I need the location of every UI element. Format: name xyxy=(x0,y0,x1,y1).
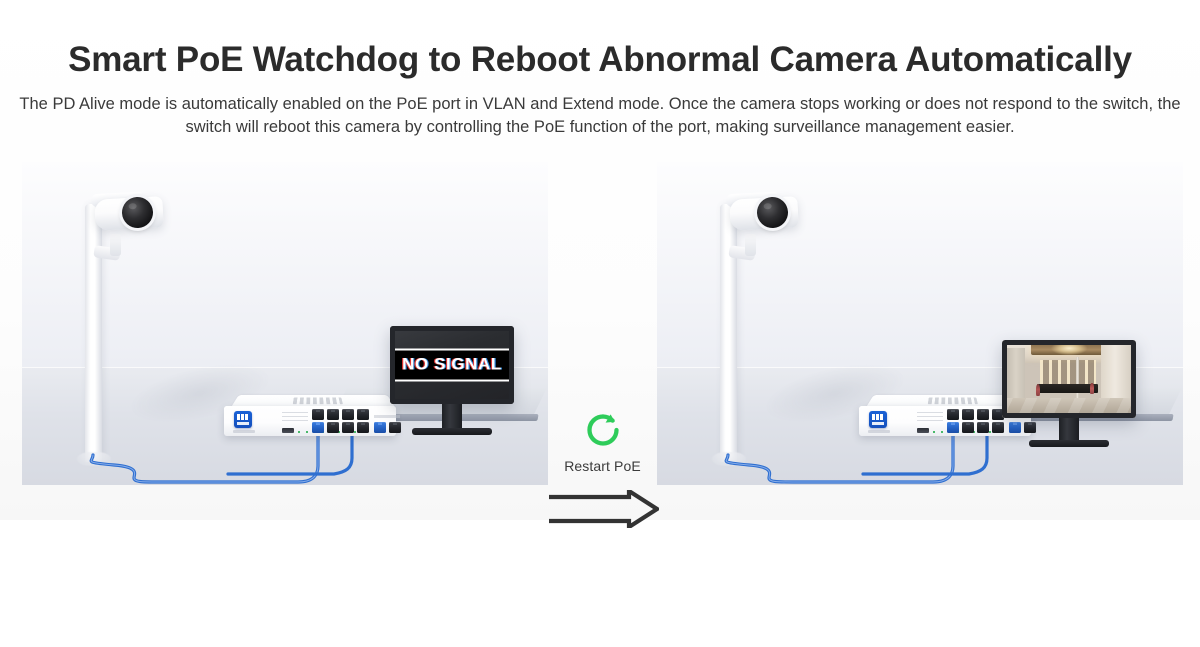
switch-front-panel xyxy=(224,406,396,436)
screen-content-live-video xyxy=(1002,340,1136,418)
restart-poe-label: Restart PoE xyxy=(548,458,657,474)
switch-model-label xyxy=(233,430,255,433)
right-arrow-icon xyxy=(547,490,659,528)
lobby-person xyxy=(1090,383,1094,394)
poe-watchdog-feature-page: Smart PoE Watchdog to Reboot Abnormal Ca… xyxy=(0,0,1200,520)
brand-logo-icon xyxy=(234,411,252,428)
camera-pole xyxy=(720,204,737,462)
switch-model-label xyxy=(868,430,890,433)
camera-mount xyxy=(745,234,756,256)
monitor-screen xyxy=(1002,340,1136,418)
port-row-top xyxy=(312,409,370,420)
no-signal-badge: NO SIGNAL xyxy=(390,349,514,382)
rj45-port xyxy=(977,422,989,433)
rj45-port xyxy=(327,422,339,433)
lobby-right-wall xyxy=(1101,340,1136,398)
no-signal-text: NO SIGNAL xyxy=(402,355,502,375)
transition-indicator: Restart PoE xyxy=(548,324,657,647)
switch-port-labels xyxy=(282,412,308,424)
uplink-port-connected xyxy=(374,422,386,433)
page-subtitle: The PD Alive mode is automatically enabl… xyxy=(14,77,1186,140)
uplink-label xyxy=(374,415,400,418)
port-row-top xyxy=(947,409,1005,420)
rj45-port xyxy=(962,409,974,420)
switch-status-leds xyxy=(282,428,294,433)
switch-port-bank xyxy=(312,409,370,433)
monitor-base xyxy=(412,428,492,435)
rj45-port xyxy=(327,409,339,420)
lobby-backdrop-slats xyxy=(1040,360,1096,387)
switch-brand-mark xyxy=(293,398,343,405)
camera-pole xyxy=(85,204,102,462)
uplink-port-bank xyxy=(374,422,402,433)
rj45-port xyxy=(342,409,354,420)
port-row-bottom xyxy=(312,422,370,433)
brand-logo-icon xyxy=(869,411,887,428)
monitor-base xyxy=(1029,440,1109,447)
rj45-port xyxy=(312,409,324,420)
rj45-port xyxy=(977,409,989,420)
camera-pole-base xyxy=(712,452,746,466)
uplink-port xyxy=(1024,422,1036,433)
rj45-port xyxy=(992,422,1004,433)
poe-switch xyxy=(224,390,396,436)
rj45-port-connected xyxy=(947,422,959,433)
scene-comparison: NO SIGNAL Restart PoE xyxy=(0,162,1200,487)
rj45-port xyxy=(357,422,369,433)
rj45-port xyxy=(342,422,354,433)
lobby-person xyxy=(1036,384,1041,396)
lobby-chandelier xyxy=(1046,345,1092,355)
lobby-reception-counter xyxy=(1037,384,1099,393)
after-reboot-scene xyxy=(657,162,1183,485)
camera-mount xyxy=(110,234,121,256)
switch-port-labels xyxy=(917,412,943,424)
port-row-bottom xyxy=(947,422,1005,433)
monitor-neck xyxy=(442,404,462,430)
camera-pole-base xyxy=(77,452,111,466)
rj45-port xyxy=(357,409,369,420)
uplink-port-connected xyxy=(1009,422,1021,433)
switch-status-leds xyxy=(917,428,929,433)
rj45-port xyxy=(947,409,959,420)
switch-brand-mark xyxy=(928,398,978,405)
header: Smart PoE Watchdog to Reboot Abnormal Ca… xyxy=(0,0,1200,140)
before-reboot-scene: NO SIGNAL xyxy=(22,162,548,485)
lobby-floor xyxy=(1002,398,1136,418)
rj45-port xyxy=(962,422,974,433)
restart-refresh-icon xyxy=(583,410,623,450)
lobby-left-wall xyxy=(1002,348,1025,398)
monitor-screen: NO SIGNAL xyxy=(390,326,514,404)
rj45-port-connected xyxy=(312,422,324,433)
uplink-port xyxy=(389,422,401,433)
uplink-port-bank xyxy=(1009,422,1037,433)
monitor-neck xyxy=(1059,418,1079,442)
page-title: Smart PoE Watchdog to Reboot Abnormal Ca… xyxy=(0,0,1200,77)
switch-port-bank xyxy=(947,409,1005,433)
